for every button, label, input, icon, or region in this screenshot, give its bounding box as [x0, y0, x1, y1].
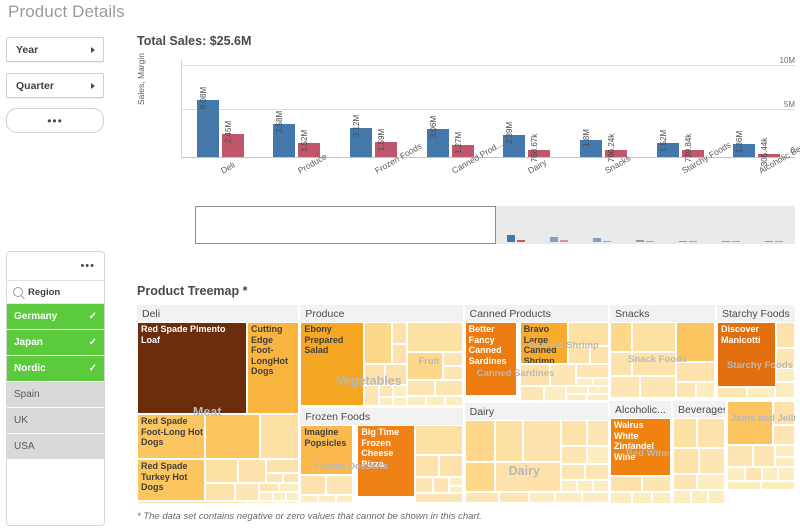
treemap-tile[interactable]	[499, 492, 529, 503]
bar-value-label: 3.58M	[275, 111, 284, 133]
bar-value-label: 3.12M	[352, 115, 361, 137]
region-list-item[interactable]: Japan✓	[7, 330, 104, 356]
region-value-list: Germany✓Japan✓Nordic✓SpainUKUSA	[7, 304, 104, 460]
bar-value-label: 1.59M	[377, 129, 386, 151]
treemap-tile-label: Red Spade Pimento Loaf	[141, 324, 245, 345]
treemap-tile[interactable]	[673, 448, 699, 474]
treemap-tile[interactable]	[762, 467, 778, 481]
region-list-item-label: USA	[14, 441, 35, 452]
region-search-row[interactable]: Region	[7, 281, 104, 304]
bar-value-label: 2.45M	[224, 121, 233, 143]
treemap-group-jams[interactable]: Jams and Jellies	[727, 401, 795, 503]
treemap-tile[interactable]	[238, 459, 266, 483]
treemap-tile[interactable]	[205, 459, 238, 483]
treemap-tile[interactable]	[495, 420, 523, 462]
treemap-tile[interactable]	[415, 477, 433, 493]
minimap-bar-group	[581, 204, 624, 244]
treemap-tile[interactable]	[379, 397, 393, 406]
bar-group[interactable]: 3.58M1.52M	[259, 60, 336, 157]
bar-value-label: 739.84k	[684, 134, 693, 162]
treemap-tile[interactable]: Red Spade Pimento Loaf	[137, 322, 247, 414]
treemap-tile[interactable]	[550, 364, 576, 386]
treemap-tile[interactable]	[696, 382, 715, 397]
treemap-tile[interactable]	[582, 492, 608, 503]
bar-group[interactable]: 6.08M2.45M	[182, 60, 259, 157]
treemap-tile[interactable]	[336, 495, 353, 503]
bar-chart-plot-area: 6.08M2.45M3.58M1.52M3.12M1.59M3.06M1.27M…	[181, 60, 795, 158]
treemap-tile-label: Discover Manicotti	[721, 324, 774, 345]
treemap-tile[interactable]	[673, 474, 697, 490]
treemap-tile[interactable]	[529, 492, 555, 503]
treemap-tile[interactable]: Big Time Frozen Cheese Pizza	[357, 425, 415, 497]
treemap-tile[interactable]	[283, 473, 298, 483]
minimap-bar	[646, 241, 654, 242]
treemap-group-canned-products[interactable]: Canned Products Better Fancy Canned Sard…	[465, 305, 608, 401]
treemap-tile[interactable]	[610, 322, 632, 352]
treemap-tile[interactable]	[300, 495, 318, 503]
treemap-tile[interactable]	[761, 481, 795, 490]
bar-group[interactable]: 1.52M739.84k	[642, 60, 719, 157]
check-icon: ✓	[89, 311, 97, 322]
treemap-tile[interactable]	[727, 401, 773, 445]
treemap-tile[interactable]	[266, 459, 298, 473]
treemap-tile[interactable]: Cutting Edge Foot-LongHot Dogs	[247, 322, 298, 414]
treemap-tile[interactable]	[443, 352, 462, 366]
treemap-group-label: Snacks	[610, 305, 715, 322]
treemap-tile[interactable]	[676, 362, 715, 382]
treemap-group-label: Deli	[137, 305, 298, 322]
treemap-tile[interactable]	[568, 346, 590, 364]
more-filters-button[interactable]: •••	[6, 108, 104, 133]
treemap-tile[interactable]	[776, 368, 795, 382]
treemap-tile[interactable]	[443, 366, 462, 380]
treemap-tile[interactable]	[273, 492, 286, 501]
treemap-tile[interactable]	[642, 476, 671, 492]
treemap-tile[interactable]	[775, 445, 795, 457]
treemap-tile[interactable]	[588, 386, 608, 394]
bar[interactable]: 2.39M	[503, 135, 525, 157]
x-axis-label[interactable]: Starchy Foods	[642, 165, 719, 205]
bar-value-label: 1.36M	[735, 131, 744, 153]
minimap-bar	[560, 240, 568, 242]
treemap-tile[interactable]	[439, 455, 462, 477]
filter-button-quarter-label: Quarter	[16, 80, 54, 92]
treemap-tile[interactable]	[364, 322, 392, 364]
treemap-tile[interactable]	[495, 462, 561, 492]
chevron-right-icon	[91, 47, 95, 53]
x-axis-label[interactable]: Snacks	[565, 165, 642, 205]
treemap-tile[interactable]	[407, 380, 435, 396]
treemap-tile[interactable]	[776, 322, 795, 348]
treemap-tile[interactable]: Red Spade Foot-Long Hot Dogs	[137, 414, 205, 459]
treemap-group-label: Produce	[300, 305, 462, 322]
treemap-group-deli[interactable]: Deli Red Spade Pimento Loaf Cutting Edge…	[137, 305, 298, 503]
treemap-group-body: Snack Foods	[610, 322, 715, 397]
bar-value-label: 6.08M	[199, 87, 208, 109]
minimap-bar	[775, 241, 783, 242]
treemap-tile[interactable]	[708, 490, 725, 503]
treemap-group-label: Dairy	[465, 403, 608, 420]
x-axis-label[interactable]: Canned Prod...	[411, 165, 488, 205]
bar-chart[interactable]: Sales, Margin 10M 5M 0 6.08M2.45M3.58M1.…	[137, 55, 795, 190]
check-icon: ✓	[89, 337, 97, 348]
treemap-tile[interactable]	[326, 475, 353, 495]
filter-button-year-label: Year	[16, 44, 38, 56]
treemap-group-label: Alcoholic...	[610, 401, 671, 418]
treemap-tile[interactable]	[555, 492, 582, 503]
treemap-tile[interactable]	[576, 378, 593, 386]
treemap-group-body: Discover Manicotti Starchy Foods	[717, 322, 795, 397]
bar-group[interactable]: 1.8M796.24k	[565, 60, 642, 157]
treemap-tile[interactable]	[566, 386, 588, 394]
treemap-tile[interactable]	[286, 492, 298, 501]
treemap-tile[interactable]	[773, 425, 795, 445]
treemap-tile-label: Bravo Large Canned Shrimp	[524, 324, 566, 364]
treemap-tile-label: Imagine Popsicles	[304, 427, 351, 448]
treemap-tile[interactable]	[379, 385, 393, 397]
treemap-tile[interactable]	[593, 480, 608, 492]
treemap-group-label: Canned Products	[465, 305, 608, 322]
treemap-tile[interactable]	[753, 445, 775, 467]
treemap-tile[interactable]	[676, 322, 715, 362]
treemap-tile-label: Better Fancy Canned Sardines	[469, 324, 515, 366]
minimap-bar	[550, 237, 558, 242]
treemap-tile[interactable]	[610, 492, 632, 503]
product-treemap[interactable]: Deli Red Spade Pimento Loaf Cutting Edge…	[137, 305, 795, 503]
bar-group[interactable]: 1.36M305.44k	[718, 60, 795, 157]
treemap-tile[interactable]: Imagine Popsicles	[300, 425, 353, 475]
minimap-bar-group	[624, 204, 667, 244]
bar-chart-x-axis: DeliProduceFrozen FoodsCanned Prod...Dai…	[181, 165, 795, 205]
x-axis-label-text: Deli	[219, 160, 237, 176]
treemap-tile[interactable]	[415, 455, 439, 477]
treemap-tile[interactable]	[435, 380, 462, 396]
treemap-group-alcoholic[interactable]: Alcoholic... Walrus White Zinfandel Wine…	[610, 401, 671, 503]
bar-chart-title: Total Sales: $25.6M	[137, 34, 251, 48]
minimap-bar	[679, 241, 687, 242]
bar-group[interactable]: 3.12M1.59M	[335, 60, 412, 157]
region-list-item[interactable]: Spain	[7, 382, 104, 408]
treemap-tile[interactable]	[561, 464, 585, 480]
treemap-tile[interactable]	[585, 464, 608, 480]
minimap-bar	[722, 241, 730, 242]
treemap-tile[interactable]	[260, 414, 298, 459]
minimap-bar	[593, 238, 601, 242]
treemap-tile[interactable]	[632, 352, 676, 376]
treemap-tile[interactable]	[449, 477, 462, 486]
bar-value-label: 1.8M	[582, 129, 591, 147]
treemap-group-body: Better Fancy Canned Sardines Bravo Large…	[465, 322, 608, 401]
treemap-group-body: Jams and Jellies	[727, 401, 795, 503]
bar-chart-scroll-minimap[interactable]	[195, 206, 795, 244]
bar[interactable]: 2.45M	[222, 134, 244, 157]
minimap-bar	[689, 241, 697, 242]
minimap-bar-group	[538, 204, 581, 244]
treemap-tile[interactable]: Red Spade Turkey Hot Dogs	[137, 459, 205, 501]
treemap-tile-label: Walrus White Zinfandel Wine	[614, 420, 669, 462]
region-field-label: Region	[28, 287, 60, 298]
region-list-item-label: UK	[14, 415, 28, 426]
treemap-tile[interactable]	[277, 501, 298, 503]
treemap-group-body: Ebony Prepared Salad	[300, 322, 462, 406]
treemap-tile[interactable]	[568, 322, 608, 346]
treemap-tile[interactable]	[266, 473, 283, 483]
treemap-tile[interactable]	[465, 420, 495, 462]
minimap-bar	[765, 241, 773, 242]
region-list-item[interactable]: USA	[7, 434, 104, 460]
minimap-bar	[507, 235, 515, 242]
bar-value-label: 2.39M	[505, 122, 514, 144]
region-list-item[interactable]: Nordic✓	[7, 356, 104, 382]
treemap-tile[interactable]	[652, 492, 671, 503]
treemap-tile[interactable]	[433, 477, 449, 493]
filter-button-year[interactable]: Year	[6, 37, 104, 62]
treemap-tile[interactable]	[587, 394, 608, 401]
treemap-tile[interactable]	[205, 414, 260, 459]
treemap-tile[interactable]	[587, 420, 608, 446]
treemap-tile[interactable]	[279, 483, 298, 492]
treemap-tile[interactable]	[587, 446, 608, 464]
treemap-group-label: Starchy Foods	[717, 305, 795, 322]
treemap-tile[interactable]: Discover Manicotti	[717, 322, 776, 387]
x-axis-label[interactable]: Produce	[258, 165, 335, 205]
treemap-tile[interactable]	[593, 378, 608, 386]
region-panel-menu-button[interactable]: •••	[7, 252, 104, 281]
treemap-tile[interactable]	[415, 493, 462, 503]
treemap-tile[interactable]	[520, 386, 544, 401]
treemap-group-label: Frozen Foods	[300, 408, 462, 425]
treemap-tile[interactable]	[465, 462, 495, 492]
treemap-tile[interactable]	[576, 364, 608, 378]
treemap-tile[interactable]	[205, 483, 235, 501]
treemap-group-label: Beverages	[673, 401, 725, 418]
x-axis-label[interactable]: Frozen Foods	[335, 165, 412, 205]
treemap-tile[interactable]	[610, 352, 632, 376]
x-axis-label[interactable]: Alcoholic Bev...	[718, 165, 795, 205]
treemap-tile[interactable]	[445, 396, 462, 406]
treemap-group-snacks[interactable]: Snacks Snack Foods	[610, 305, 715, 397]
treemap-tile[interactable]	[566, 394, 587, 401]
treemap-tile[interactable]	[318, 495, 336, 503]
treemap-tile[interactable]	[465, 492, 499, 503]
chevron-right-icon	[91, 83, 95, 89]
treemap-tile[interactable]	[727, 467, 745, 481]
treemap-group-starchy-foods[interactable]: Starchy Foods Discover Manicotti Starchy…	[717, 305, 795, 397]
treemap-group-body: Dairy	[465, 420, 608, 503]
treemap-group-body: Imagine Popsicles Big Time Frozen Cheese…	[300, 425, 462, 503]
treemap-tile[interactable]	[523, 420, 561, 462]
treemap-tile[interactable]	[640, 376, 676, 397]
bar[interactable]: 768.67k	[528, 150, 550, 157]
treemap-tile[interactable]	[632, 492, 652, 503]
treemap-tile-label: Red Spade Turkey Hot Dogs	[141, 461, 203, 493]
treemap-tile[interactable]	[775, 457, 795, 467]
region-list-item-label: Spain	[14, 389, 40, 400]
treemap-footnote: * The data set contains negative or zero…	[137, 511, 482, 522]
bar-value-label: 1.52M	[659, 130, 668, 152]
treemap-tile[interactable]	[392, 344, 407, 364]
treemap-tile[interactable]	[697, 474, 725, 490]
bar[interactable]: 1.8M	[580, 140, 602, 157]
treemap-group-beverages[interactable]: Beverages	[673, 401, 725, 503]
minimap-bar-group	[666, 204, 709, 244]
minimap-bar	[603, 241, 611, 242]
treemap-tile[interactable]	[561, 480, 577, 492]
treemap-tile[interactable]	[691, 490, 708, 503]
treemap-tile[interactable]	[632, 322, 676, 352]
treemap-tile[interactable]	[426, 396, 445, 406]
treemap-tile-label: Red Spade Foot-Long Hot Dogs	[141, 416, 203, 448]
region-list-item-label: Japan	[14, 337, 43, 348]
treemap-tile[interactable]	[407, 322, 462, 352]
treemap-tile[interactable]	[590, 346, 608, 364]
treemap-tile[interactable]	[697, 418, 725, 448]
treemap-tile[interactable]	[727, 481, 761, 490]
treemap-tile[interactable]	[259, 492, 273, 501]
minimap-bar	[732, 241, 740, 242]
bar[interactable]: 1.52M	[657, 143, 679, 157]
bar-value-label: 1.52M	[300, 130, 309, 152]
treemap-tile[interactable]	[415, 425, 462, 455]
bar[interactable]: 3.58M	[273, 124, 295, 157]
treemap-tile[interactable]	[773, 401, 795, 425]
bar-group[interactable]: 3.06M1.27M	[412, 60, 489, 157]
bar[interactable]: 6.08M	[197, 100, 219, 157]
minimap-bar	[517, 240, 525, 242]
treemap-tile[interactable]	[775, 382, 795, 397]
treemap-tile[interactable]	[247, 501, 277, 503]
treemap-tile[interactable]	[561, 446, 587, 464]
treemap-tile[interactable]	[717, 387, 747, 397]
treemap-tile[interactable]	[364, 364, 385, 385]
bar[interactable]: 3.06M	[427, 129, 449, 157]
filter-button-quarter[interactable]: Quarter	[6, 73, 104, 98]
treemap-tile[interactable]	[544, 386, 566, 401]
treemap-tile[interactable]	[610, 376, 640, 397]
region-list-item[interactable]: UK	[7, 408, 104, 434]
treemap-tile[interactable]	[393, 385, 407, 397]
bar[interactable]: 3.12M	[350, 128, 372, 157]
x-axis-label[interactable]: Deli	[181, 165, 258, 205]
treemap-tile[interactable]	[364, 385, 379, 406]
treemap-tile[interactable]: Bravo Large Canned Shrimp	[520, 322, 568, 364]
treemap-tile[interactable]	[449, 486, 462, 493]
treemap-tile[interactable]	[561, 420, 587, 446]
bar-chart-y-axis-title: Sales, Margin	[136, 53, 146, 105]
minimap-selection-window[interactable]	[195, 206, 496, 244]
treemap-tile[interactable]	[300, 475, 326, 495]
region-list-item-label: Nordic	[14, 363, 46, 374]
treemap-tile[interactable]	[392, 322, 407, 344]
treemap-tile[interactable]	[520, 364, 550, 386]
treemap-tile[interactable]: Better Fancy Canned Sardines	[465, 322, 517, 396]
treemap-tile[interactable]	[676, 382, 696, 397]
treemap-tile[interactable]	[778, 467, 795, 481]
treemap-tile[interactable]	[747, 387, 775, 397]
page-title: Product Details	[8, 2, 125, 22]
treemap-tile[interactable]	[699, 448, 725, 474]
treemap-tile[interactable]	[776, 348, 795, 368]
x-axis-label[interactable]: Dairy	[488, 165, 565, 205]
treemap-tile[interactable]	[673, 490, 691, 503]
region-empty-space	[7, 460, 104, 525]
treemap-tile[interactable]	[385, 364, 407, 385]
minimap-bar	[636, 240, 644, 242]
treemap-tile[interactable]	[137, 501, 247, 503]
treemap-tile[interactable]	[235, 483, 259, 501]
treemap-tile[interactable]	[727, 445, 753, 467]
search-icon	[13, 287, 23, 297]
treemap-group-dairy[interactable]: Dairy	[465, 403, 608, 503]
treemap-group-body: Walrus White Zinfandel Wine Red Wine	[610, 418, 671, 503]
check-icon: ✓	[89, 363, 97, 374]
minimap-bar-group	[752, 204, 795, 244]
minimap-bar-group	[709, 204, 752, 244]
treemap-group-produce[interactable]: Produce Ebony Prepared Salad	[300, 305, 462, 406]
treemap-tile[interactable]	[673, 418, 697, 448]
treemap-tile[interactable]	[577, 480, 593, 492]
region-list-item-label: Germany	[14, 311, 57, 322]
bar-value-label: 796.24k	[607, 133, 616, 161]
treemap-tile[interactable]	[610, 476, 642, 492]
treemap-title: Product Treemap *	[137, 284, 247, 298]
dashboard-page: Product Details Year Quarter ••• ••• Reg…	[0, 0, 800, 531]
bar[interactable]: 1.36M	[733, 144, 755, 157]
region-list-item[interactable]: Germany✓	[7, 304, 104, 330]
treemap-group-frozen-foods[interactable]: Frozen Foods Imagine Popsicles Big Time …	[300, 408, 462, 503]
treemap-group-body: Red Spade Pimento Loaf Cutting Edge Foot…	[137, 322, 298, 503]
treemap-tile[interactable]	[745, 467, 762, 481]
treemap-tile[interactable]: Ebony Prepared Salad	[300, 322, 364, 406]
treemap-tile[interactable]	[407, 352, 443, 380]
minimap-bar-group	[495, 204, 538, 244]
treemap-tile-label: Cutting Edge Foot-LongHot Dogs	[251, 324, 297, 377]
treemap-tile[interactable]	[393, 397, 407, 406]
treemap-tile-label: Big Time Frozen Cheese Pizza	[361, 427, 413, 469]
treemap-tile[interactable]: Walrus White Zinfandel Wine	[610, 418, 671, 476]
treemap-tile-label: Ebony Prepared Salad	[304, 324, 362, 356]
treemap-tile[interactable]	[259, 483, 279, 492]
region-filter-panel: ••• Region Germany✓Japan✓Nordic✓SpainUKU…	[6, 251, 105, 526]
bar-value-label: 1.27M	[454, 132, 463, 154]
bar-value-label: 768.67k	[530, 134, 539, 162]
treemap-group-body	[673, 418, 725, 503]
treemap-tile[interactable]	[407, 396, 426, 406]
bar-value-label: 3.06M	[429, 115, 438, 137]
